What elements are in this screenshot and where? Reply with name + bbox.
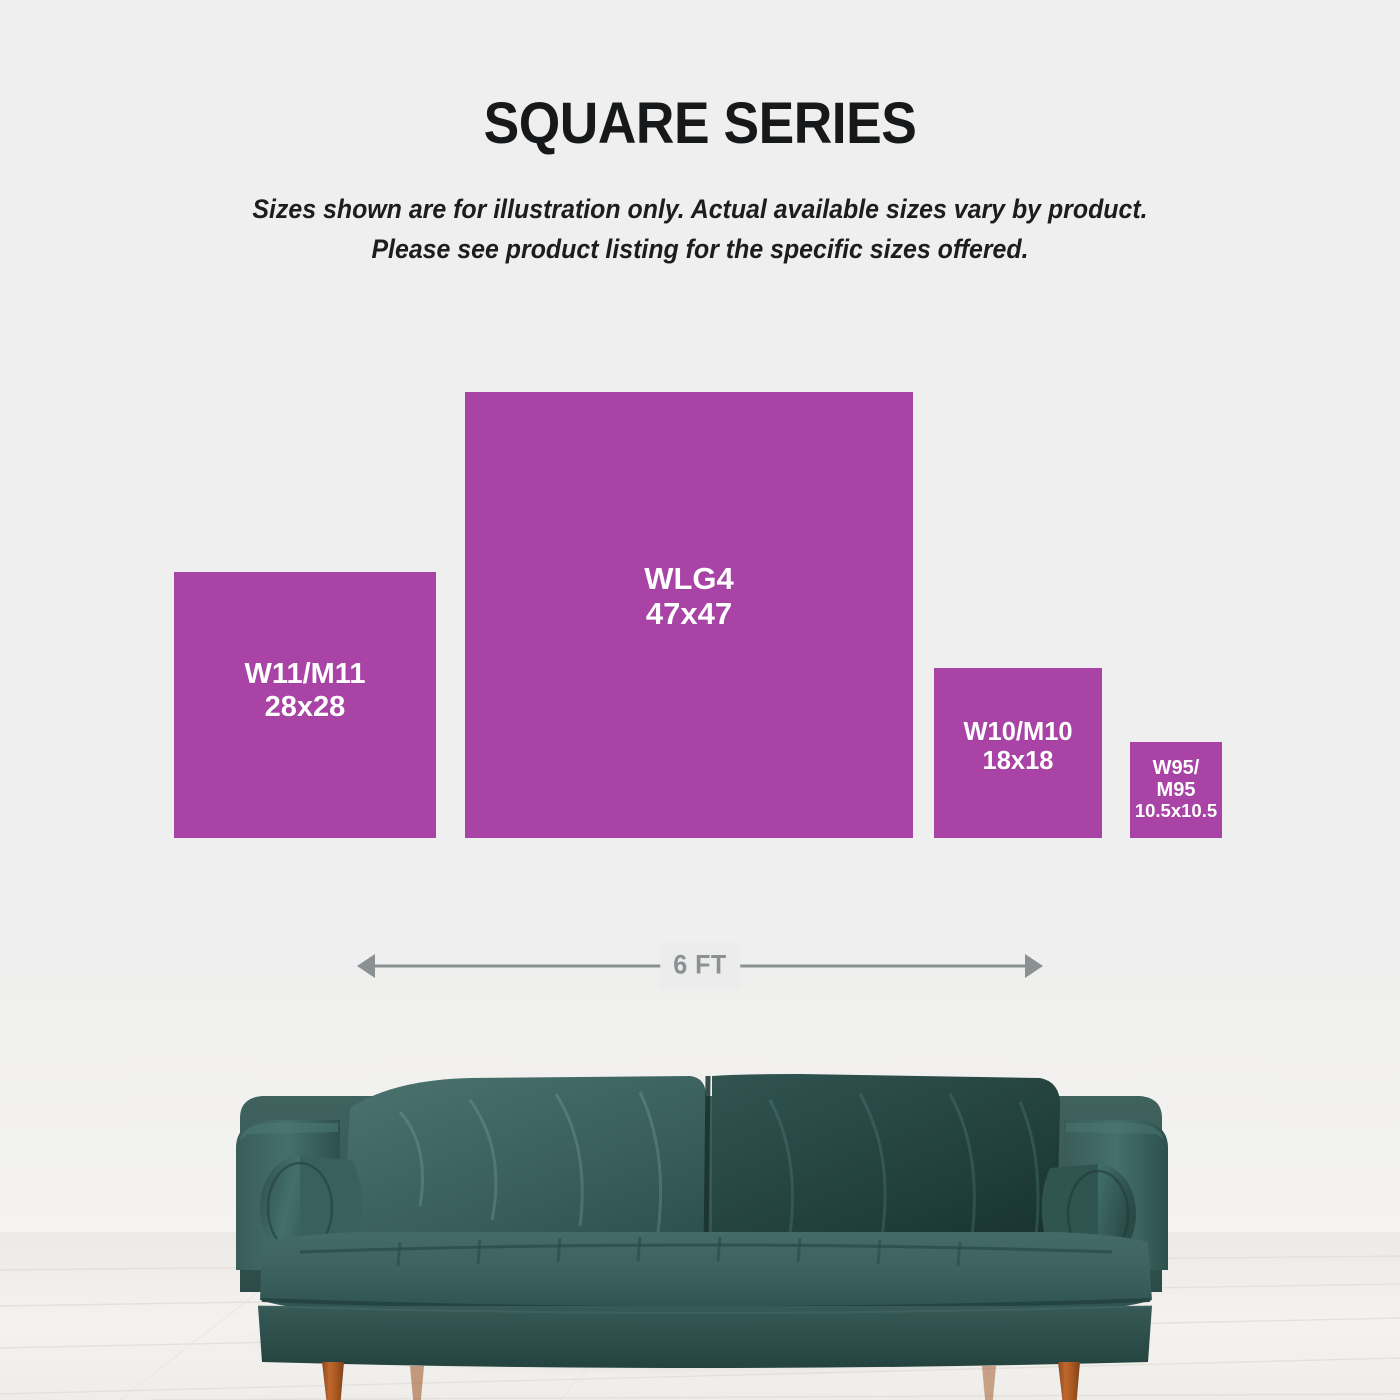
swatch-dimensions: 10.5x10.5	[1135, 801, 1217, 821]
size-swatch-wlg4[interactable]: WLG4 47x47	[465, 392, 913, 838]
scale-measure: 6 FT	[355, 945, 1045, 987]
subtitle-line-1: Sizes shown are for illustration only. A…	[42, 189, 1358, 229]
swatch-code: W10/M10	[963, 718, 1072, 747]
size-guide-page: SQUARE SERIES Sizes shown are for illust…	[0, 0, 1400, 1400]
swatch-dimensions: 18x18	[963, 747, 1072, 776]
page-title: SQUARE SERIES	[56, 94, 1344, 155]
swatch-label: W10/M10 18x18	[963, 718, 1072, 776]
sofa-illustration	[0, 970, 1400, 1400]
size-swatch-w11-m11[interactable]: W11/M11 28x28	[174, 572, 436, 838]
sofa-photo	[0, 970, 1400, 1400]
swatch-code: WLG4	[644, 561, 734, 596]
swatch-code-line2: M95	[1135, 779, 1217, 801]
page-subtitle: Sizes shown are for illustration only. A…	[42, 189, 1358, 270]
swatch-code: W11/M11	[245, 658, 366, 691]
size-swatch-w10-m10[interactable]: W10/M10 18x18	[934, 668, 1102, 838]
swatch-dimensions: 47x47	[644, 596, 734, 631]
subtitle-line-2: Please see product listing for the speci…	[42, 229, 1358, 269]
swatch-label: W11/M11 28x28	[245, 658, 366, 724]
size-swatch-w95-m95[interactable]: W95/ M95 10.5x10.5	[1130, 742, 1222, 838]
swatch-dimensions: 28x28	[245, 691, 366, 724]
page-header: SQUARE SERIES Sizes shown are for illust…	[0, 0, 1400, 269]
swatch-code: W95/	[1135, 757, 1217, 779]
swatch-label: WLG4 47x47	[644, 561, 734, 631]
measure-label: 6 FT	[660, 943, 740, 990]
swatch-label: W95/ M95 10.5x10.5	[1135, 757, 1217, 821]
